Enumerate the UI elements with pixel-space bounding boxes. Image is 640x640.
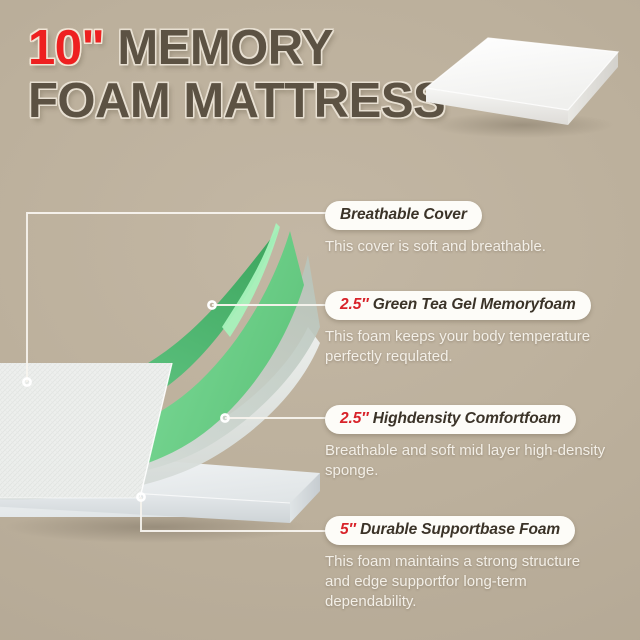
callout-highdensity-comfortfoam: 2.5″ Highdensity Comfortfoam Breathable …: [325, 405, 607, 481]
headline-line-2: FOAM MATTRESS: [28, 79, 438, 124]
callout-comfort-pill: 2.5″ Highdensity Comfortfoam: [325, 405, 576, 434]
product-photo-mattress: [418, 26, 624, 138]
headline-line-1-rest: MEMORY: [104, 21, 333, 75]
callout-support-pill: 5″ Durable Supportbase Foam: [325, 516, 575, 545]
callout-gel-pill: 2.5″ Green Tea Gel Memoryfoam: [325, 291, 591, 320]
callout-green-tea-gel-memoryfoam: 2.5″ Green Tea Gel Memoryfoam This foam …: [325, 291, 607, 367]
callout-comfort-description: Breathable and soft mid layer high-densi…: [325, 441, 607, 481]
headline-measurement: 10": [28, 21, 104, 75]
callout-cover-pill: Breathable Cover: [325, 201, 482, 230]
callout-comfort-title: Highdensity Comfortfoam: [373, 410, 561, 427]
callout-support-description: This foam maintains a strong structure a…: [325, 552, 607, 612]
callout-durable-supportbase-foam: 5″ Durable Supportbase Foam This foam ma…: [325, 516, 607, 612]
callout-breathable-cover: Breathable Cover This cover is soft and …: [325, 201, 546, 257]
mattress-infographic-poster: 10" MEMORY FOAM MATTRESS: [0, 0, 640, 640]
mattress-layer-diagram: [0, 215, 340, 560]
callout-cover-description: This cover is soft and breathable.: [325, 237, 546, 257]
callout-gel-measurement: 2.5″: [340, 296, 369, 313]
page-title: 10" MEMORY FOAM MATTRESS: [28, 26, 438, 124]
callout-support-title: Durable Supportbase Foam: [360, 521, 560, 538]
callout-support-measurement: 5″: [340, 521, 356, 538]
headline-line-1: 10" MEMORY: [28, 26, 438, 71]
callout-comfort-measurement: 2.5″: [340, 410, 369, 427]
callout-gel-title: Green Tea Gel Memoryfoam: [373, 296, 576, 313]
callout-gel-description: This foam keeps your body temperature pe…: [325, 327, 607, 367]
callout-cover-title: Breathable Cover: [340, 206, 467, 223]
